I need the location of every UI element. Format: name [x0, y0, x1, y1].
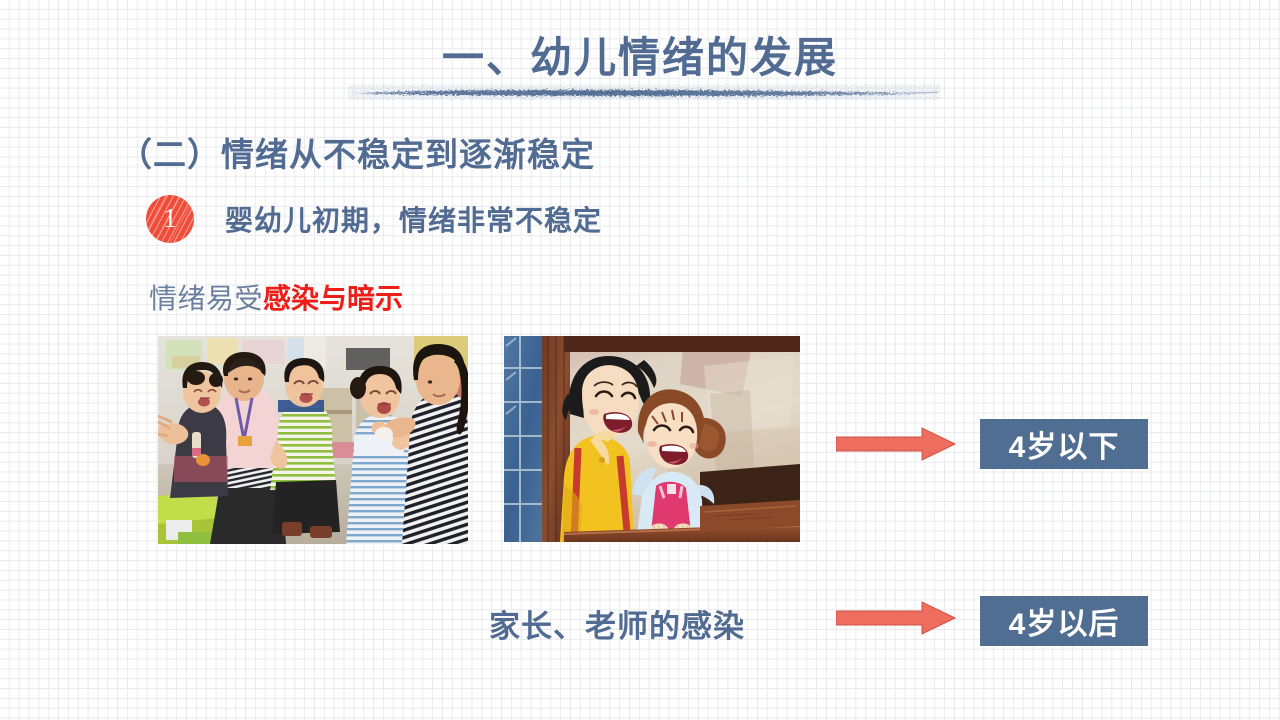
numbered-point-row: 1 婴幼儿初期，情绪非常不稳定 — [146, 195, 602, 243]
number-badge-label: 1 — [146, 195, 194, 243]
numbered-point-text: 婴幼儿初期，情绪非常不稳定 — [225, 199, 602, 239]
anime-laughing-children-photo — [504, 336, 800, 542]
number-badge-circle: 1 — [146, 195, 194, 243]
arrow-right-icon-top — [836, 427, 956, 461]
brush-stroke-underline-decoration — [348, 84, 940, 100]
classroom-crying-children-photo — [158, 336, 468, 544]
lead-line-normal-text: 情绪易受 — [149, 283, 263, 314]
label-box-under-four: 4岁以下 — [980, 419, 1148, 469]
lead-line: 情绪易受感染与暗示 — [149, 277, 403, 317]
section-heading: （二）情绪从不稳定到逐渐稳定 — [119, 128, 595, 176]
arrow-right-icon-bottom — [836, 601, 956, 635]
slide-canvas: 一、幼儿情绪的发展 — [0, 0, 1280, 720]
label-box-over-four: 4岁以后 — [980, 596, 1148, 646]
page-title: 一、幼儿情绪的发展 — [0, 24, 1280, 85]
bottom-caption: 家长、老师的感染 — [489, 601, 745, 646]
lead-line-accent-text: 感染与暗示 — [263, 283, 403, 314]
